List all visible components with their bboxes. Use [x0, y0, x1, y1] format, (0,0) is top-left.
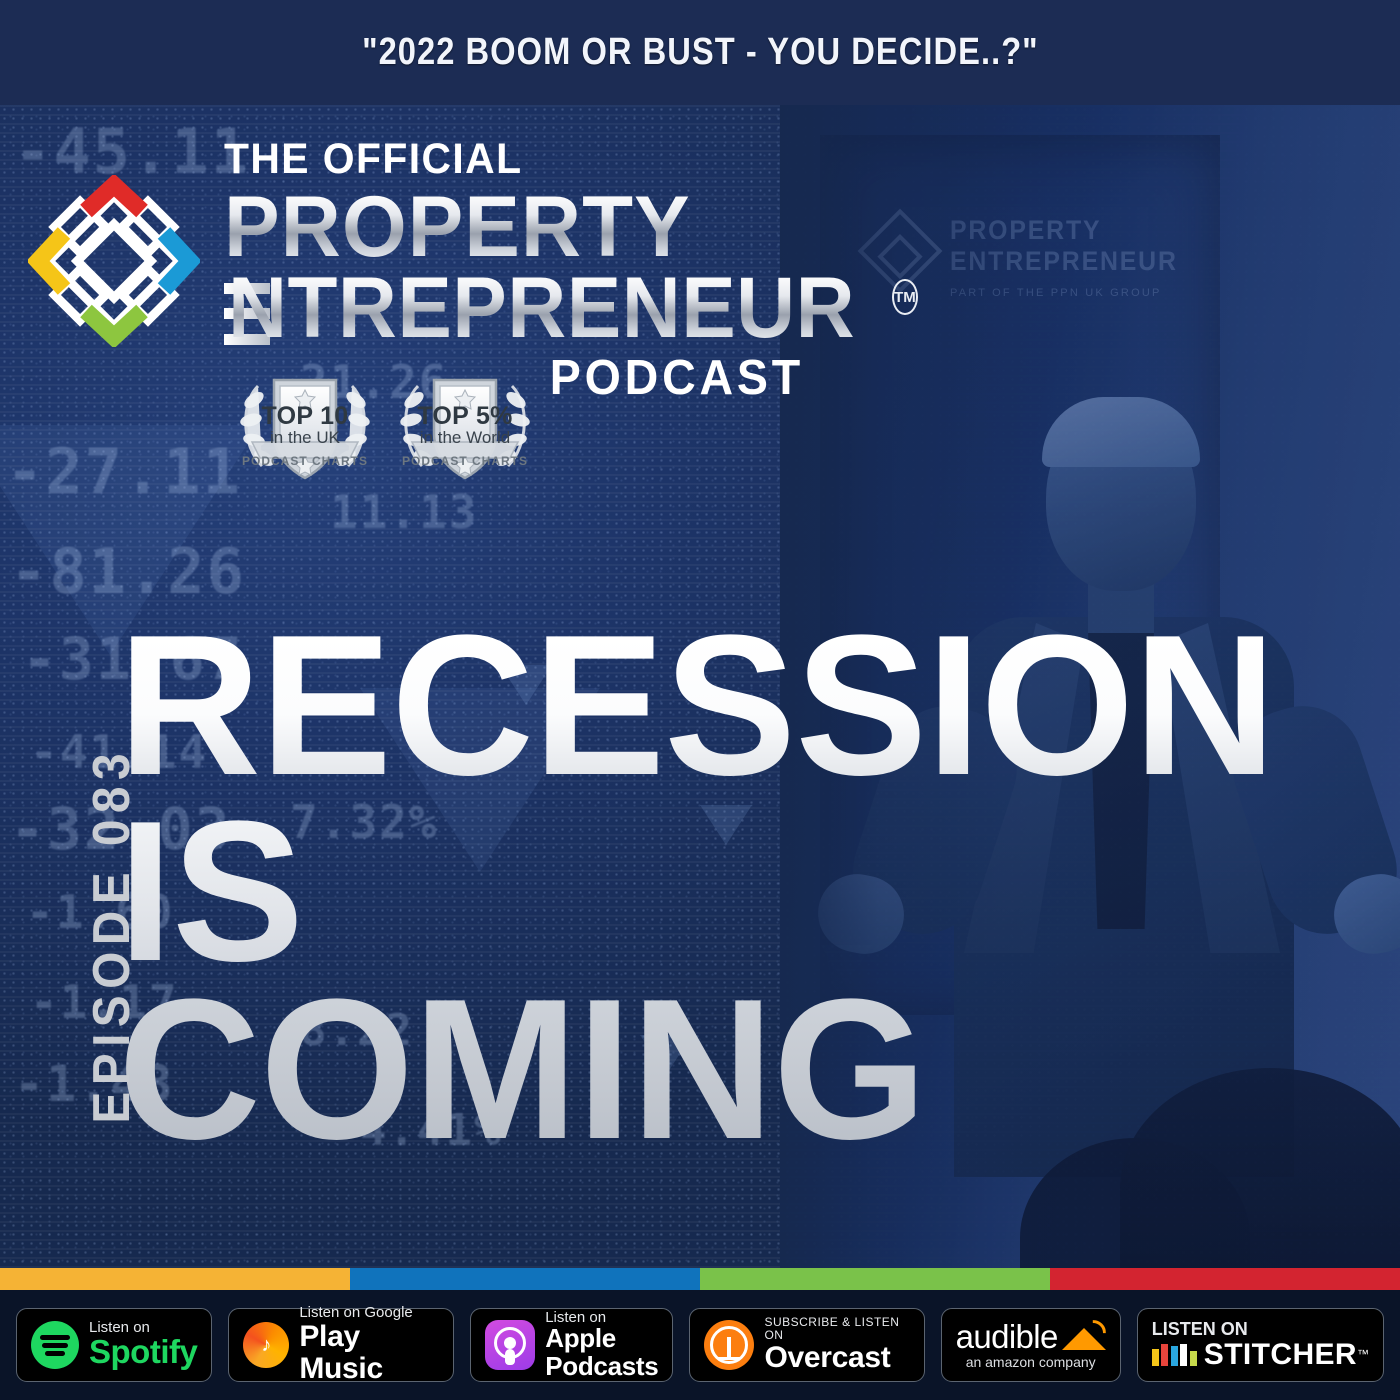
divider-segment-amber — [0, 1268, 350, 1290]
color-divider — [0, 1268, 1400, 1290]
award-rank: TOP 10 — [236, 402, 374, 431]
apple-label-1: Apple — [545, 1325, 658, 1353]
award-badges: TOP 10 in the UK PODCAST CHARTS — [236, 360, 534, 492]
overcast-label: Overcast — [764, 1342, 909, 1374]
stitcher-prefix: LISTEN ON — [1152, 1320, 1369, 1339]
divider-segment-green — [700, 1268, 1050, 1290]
listen-on-spotify-button[interactable]: Listen on Spotify — [16, 1308, 212, 1382]
award-chart-label: PODCAST CHARTS — [236, 454, 374, 468]
divider-segment-blue — [350, 1268, 700, 1290]
spotify-label: Spotify — [89, 1335, 197, 1370]
google-play-label: Play Music — [299, 1321, 439, 1385]
episode-quote: "2022 BOOM OR BUST - YOU DECIDE..?" — [362, 31, 1039, 74]
trademark-icon: TM — [892, 279, 918, 315]
property-entrepreneur-logo-icon — [28, 175, 200, 347]
stitcher-label: STITCHER — [1204, 1339, 1357, 1371]
listen-on-audible-button[interactable]: audible an amazon company — [941, 1308, 1121, 1382]
award-badge-top5: TOP 5% in the World PODCAST CHARTS — [396, 360, 534, 492]
award-scope: in the UK — [236, 428, 374, 448]
award-badge-top10: TOP 10 in the UK PODCAST CHARTS — [236, 360, 374, 492]
listen-on-google-play-music-button[interactable]: ♪ Listen on Google Play Music — [228, 1308, 454, 1382]
audible-tagline: an amazon company — [966, 1355, 1096, 1370]
episode-title-band: "2022 BOOM OR BUST - YOU DECIDE..?" — [0, 0, 1400, 105]
audible-label: audible — [956, 1320, 1058, 1355]
divider-segment-red — [1050, 1268, 1400, 1290]
award-rank: TOP 5% — [396, 402, 534, 431]
award-scope: in the World — [396, 428, 534, 448]
main-title: RECESSION IS COMING — [118, 620, 1318, 1156]
listen-on-apple-podcasts-button[interactable]: Listen on Apple Podcasts — [470, 1308, 673, 1382]
brand-official-label: THE OFFICIAL — [224, 135, 813, 184]
ticker-value: -27.11 — [6, 435, 242, 508]
award-chart-label: PODCAST CHARTS — [396, 454, 534, 468]
apple-label-2: Podcasts — [545, 1353, 658, 1381]
episode-number-vertical: EPISODE 083 — [82, 655, 142, 1215]
google-play-prefix: Listen on Google — [299, 1305, 439, 1321]
title-line-3: COMING — [118, 984, 1306, 1156]
stitcher-tm: ™ — [1357, 1348, 1369, 1361]
stitcher-icon — [1152, 1344, 1197, 1366]
episode-number-text: EPISODE 083 — [82, 747, 142, 1124]
subscribe-on-overcast-button[interactable]: SUBSCRIBE & LISTEN ON Overcast — [689, 1308, 924, 1382]
listen-on-stitcher-button[interactable]: LISTEN ON STITCHER ™ — [1137, 1308, 1384, 1382]
podcast-cover-art: "2022 BOOM OR BUST - YOU DECIDE..?" -45.… — [0, 0, 1400, 1400]
ticker-value: 11.13 — [330, 485, 478, 539]
overcast-prefix: SUBSCRIBE & LISTEN ON — [764, 1316, 909, 1341]
audible-icon — [1062, 1320, 1106, 1350]
title-line-2: IS — [118, 806, 1306, 978]
platform-badges-row: Listen on Spotify ♪ Listen on Google Pla… — [0, 1290, 1400, 1400]
google-play-music-icon: ♪ — [243, 1322, 289, 1368]
brand-name-property: PROPERTY — [224, 188, 825, 267]
title-line-1: RECESSION — [118, 620, 1306, 792]
brand-name-entrepreneur-row: NTREPRENEUR TM — [224, 269, 844, 348]
apple-podcasts-icon — [485, 1320, 535, 1370]
spotify-icon — [31, 1321, 79, 1369]
brand-name-entrepreneur: NTREPRENEUR — [228, 269, 855, 348]
overcast-icon — [704, 1320, 754, 1370]
